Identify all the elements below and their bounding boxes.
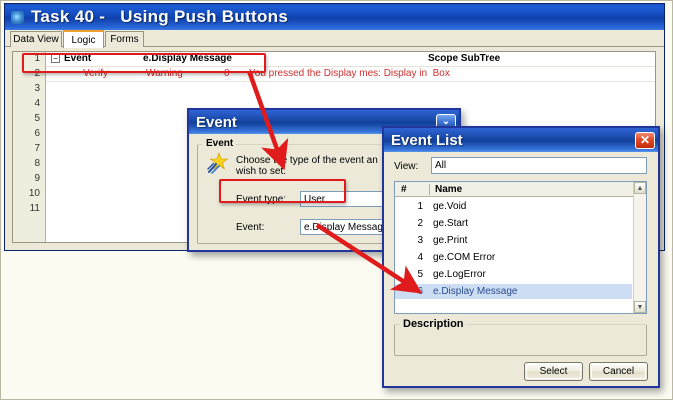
scroll-down-icon[interactable]: ▼ — [634, 301, 646, 313]
row-number: 9 — [13, 172, 40, 186]
list-item-name: ge.Start — [433, 216, 468, 231]
row-number: 8 — [13, 157, 40, 171]
event-list-header: # Name — [395, 182, 646, 197]
list-item[interactable]: 1 ge.Void — [395, 199, 646, 214]
list-item-number: 3 — [395, 233, 423, 248]
list-item-number: 4 — [395, 250, 423, 265]
event-dialog-title: Event — [196, 114, 237, 131]
select-button[interactable]: Select — [524, 362, 583, 381]
row-number: 1 — [13, 52, 40, 66]
description-label: Description — [400, 318, 467, 330]
app-icon — [10, 10, 25, 25]
list-item-name: ge.Void — [433, 199, 466, 214]
event-type-label: Event type: — [236, 194, 286, 205]
table-row[interactable]: 3 — [13, 82, 655, 96]
event-list-dialog: Event List ✕ View: All # Name 1 ge.Void … — [382, 126, 660, 388]
close-icon[interactable]: ✕ — [635, 132, 655, 149]
event-list-scrollbar[interactable]: ▲ ▼ — [633, 182, 646, 313]
cell-event-name: e.Display Message — [143, 52, 232, 66]
list-item-name: ge.Print — [433, 233, 467, 248]
row-number: 2 — [13, 67, 40, 81]
column-header-name[interactable]: Name — [435, 182, 462, 197]
list-item-number: 2 — [395, 216, 423, 231]
view-filter-field[interactable]: All — [431, 157, 647, 174]
table-row[interactable]: 2 Verify Warning 0 You pressed the Displ… — [13, 67, 655, 81]
event-label: Event: — [236, 222, 264, 233]
list-item[interactable]: 5 ge.LogError — [395, 267, 646, 282]
event-dialog-description: Choose the type of the event an wish to … — [236, 155, 378, 177]
scroll-up-icon[interactable]: ▲ — [634, 182, 646, 194]
cancel-button[interactable]: Cancel — [589, 362, 648, 381]
row-number: 6 — [13, 127, 40, 141]
tabstrip: Data View Logic Forms — [5, 30, 664, 47]
column-header-number[interactable]: # — [401, 182, 407, 197]
list-item-name: e.Display Message — [433, 284, 517, 299]
list-item-number: 5 — [395, 267, 423, 282]
list-item[interactable]: 4 ge.COM Error — [395, 250, 646, 265]
shooting-star-icon — [207, 152, 229, 174]
select-button-label: Select — [540, 366, 568, 377]
tab-data-view-label: Data View — [13, 34, 58, 45]
event-list-box[interactable]: # Name 1 ge.Void 2 ge.Start 3 ge.Print 4… — [394, 181, 647, 314]
list-item-name: ge.COM Error — [433, 250, 495, 265]
list-item-selected[interactable]: 6 e.Display Message — [395, 284, 632, 299]
cell-code: 0 — [224, 67, 230, 81]
event-list-titlebar: Event List ✕ — [384, 128, 658, 152]
row-number: 5 — [13, 112, 40, 126]
cell-message: You pressed the Display mes: Display in … — [249, 67, 450, 81]
list-item[interactable]: 2 ge.Start — [395, 216, 646, 231]
cell-event-type: Event — [64, 52, 91, 66]
row-number: 4 — [13, 97, 40, 111]
list-item[interactable]: 3 ge.Print — [395, 233, 646, 248]
row-expander-icon[interactable]: − — [51, 54, 60, 63]
row-number: 3 — [13, 82, 40, 96]
list-item-name: ge.LogError — [433, 267, 486, 282]
row-number: 11 — [13, 202, 40, 216]
view-label: View: — [394, 161, 418, 172]
event-list-title: Event List — [391, 132, 463, 149]
cell-verify: Verify — [83, 67, 108, 81]
row-number: 7 — [13, 142, 40, 156]
window-title: Task 40 - Using Push Buttons — [31, 7, 288, 27]
cancel-button-label: Cancel — [603, 366, 634, 377]
tab-forms-label: Forms — [110, 34, 138, 45]
row-number: 10 — [13, 187, 40, 201]
event-groupbox-label: Event — [203, 138, 236, 149]
list-item-number: 1 — [395, 199, 423, 214]
tab-logic-label: Logic — [72, 35, 96, 46]
column-header-scope-subtree: Scope SubTree — [428, 52, 500, 66]
tab-logic[interactable]: Logic — [63, 30, 104, 48]
tab-data-view[interactable]: Data View — [10, 31, 62, 47]
main-window-titlebar: Task 40 - Using Push Buttons — [5, 4, 664, 31]
list-item-number: 6 — [395, 284, 423, 299]
tab-forms[interactable]: Forms — [105, 31, 144, 47]
cell-level: Warning — [146, 67, 183, 81]
table-row[interactable]: 1 − Event e.Display Message Scope SubTre… — [13, 52, 655, 66]
